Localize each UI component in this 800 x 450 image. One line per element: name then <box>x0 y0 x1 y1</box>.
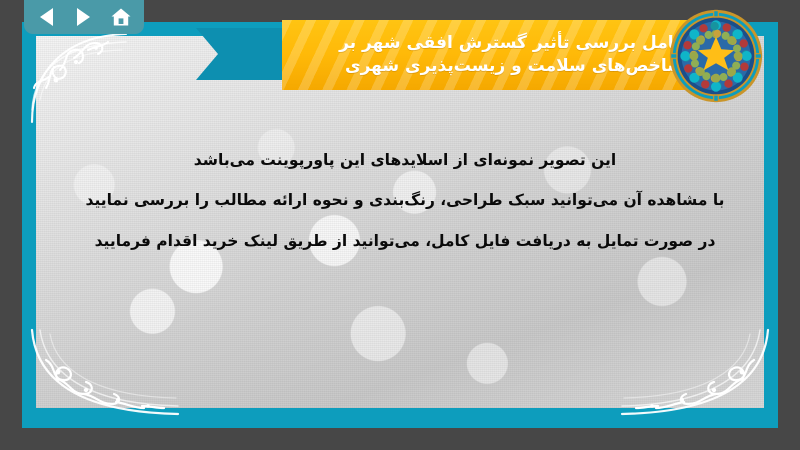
title-banner-body: کامل بررسی تأثیر گسترش افقی شهر بر شاخص‌… <box>282 20 702 90</box>
title-banner: کامل بررسی تأثیر گسترش افقی شهر بر شاخص‌… <box>196 14 756 92</box>
title-line-1: کامل بررسی تأثیر گسترش افقی شهر بر <box>339 32 684 55</box>
triangle-right-icon <box>77 8 90 26</box>
triangle-left-icon <box>40 8 53 26</box>
slide-body-text: این تصویر نمونه‌ای از اسلایدهای این پاور… <box>62 140 748 261</box>
persian-mandala-medallion <box>668 8 764 104</box>
home-button[interactable] <box>106 4 136 30</box>
home-icon <box>110 7 132 27</box>
body-line-3: در صورت تمایل به دریافت فایل کامل، می‌تو… <box>62 221 748 261</box>
navigation-bar <box>24 0 144 34</box>
prev-button[interactable] <box>32 4 62 30</box>
ribbon-tail <box>196 28 286 80</box>
slide-viewer: این تصویر نمونه‌ای از اسلایدهای این پاور… <box>0 0 800 450</box>
next-button[interactable] <box>69 4 99 30</box>
body-line-1: این تصویر نمونه‌ای از اسلایدهای این پاور… <box>62 140 748 180</box>
title-line-2: شاخص‌های سلامت و زیست‌پذیری شهری <box>345 55 684 78</box>
body-line-2: با مشاهده آن می‌توانید سبک طراحی، رنگ‌بن… <box>62 180 748 220</box>
